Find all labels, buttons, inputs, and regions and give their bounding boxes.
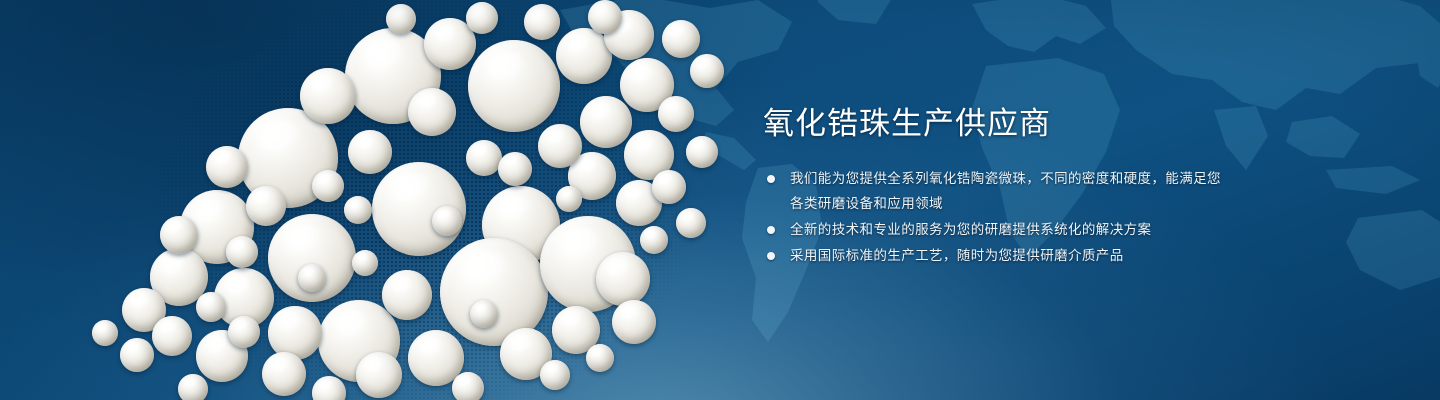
- hero-banner: 氧化锆珠生产供应商 我们能为您提供全系列氧化锆陶瓷微珠，不同的密度和硬度，能满足…: [0, 0, 1440, 400]
- banner-text-block: 氧化锆珠生产供应商 我们能为您提供全系列氧化锆陶瓷微珠，不同的密度和硬度，能满足…: [763, 104, 1233, 269]
- list-item-text: 我们能为您提供全系列氧化锆陶瓷微珠，不同的密度和硬度，能满足您各类研磨设备和应用…: [790, 171, 1221, 211]
- list-item-text: 采用国际标准的生产工艺，随时为您提供研磨介质产品: [790, 248, 1124, 263]
- list-item: 我们能为您提供全系列氧化锆陶瓷微珠，不同的密度和硬度，能满足您各类研磨设备和应用…: [763, 166, 1233, 216]
- bullet-dot-icon: [767, 226, 775, 234]
- bullet-dot-icon: [767, 252, 775, 260]
- bullet-dot-icon: [767, 175, 775, 183]
- list-item-text: 全新的技术和专业的服务为您的研磨提供系统化的解决方案: [790, 222, 1151, 237]
- banner-headline: 氧化锆珠生产供应商: [763, 104, 1233, 144]
- banner-feature-list: 我们能为您提供全系列氧化锆陶瓷微珠，不同的密度和硬度，能满足您各类研磨设备和应用…: [763, 166, 1233, 268]
- list-item: 采用国际标准的生产工艺，随时为您提供研磨介质产品: [763, 243, 1233, 268]
- list-item: 全新的技术和专业的服务为您的研磨提供系统化的解决方案: [763, 217, 1233, 242]
